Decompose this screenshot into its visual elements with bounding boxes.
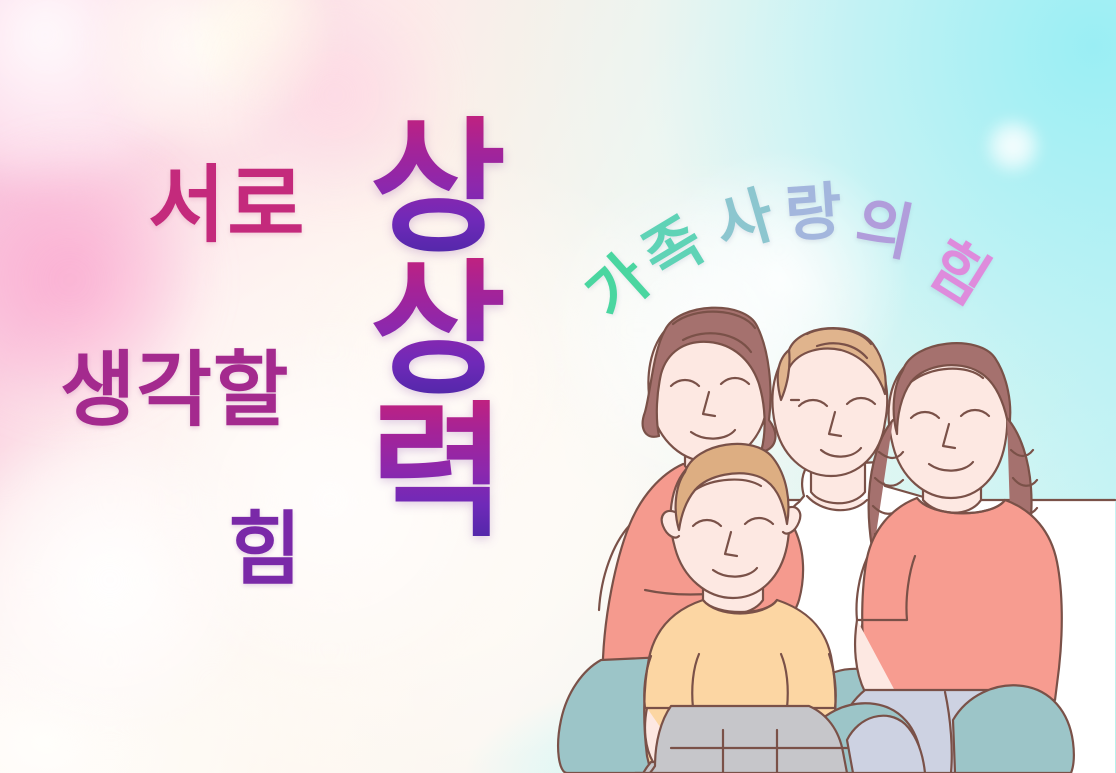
family-hug-illustration — [455, 300, 1116, 773]
headline-line-2: 생각할 — [60, 350, 289, 432]
arched-title: 가족사랑의힘 — [560, 180, 1060, 370]
big-char-1: 상 — [352, 116, 522, 258]
arched-title-char-5: 의 — [850, 193, 919, 266]
poster-canvas: 서로 생각할 힘 상 상 력 가족사랑의힘 — [0, 0, 1116, 773]
arched-title-char-3: 사 — [709, 183, 781, 258]
big-char-2: 상 — [352, 258, 522, 400]
headline-line-1: 서로 — [148, 163, 307, 247]
big-char-3: 력 — [352, 400, 522, 542]
headline-line-3: 힘 — [228, 510, 302, 590]
arched-title-char-4: 랑 — [783, 180, 844, 246]
headline-block: 서로 생각할 힘 상 상 력 — [0, 0, 520, 773]
arched-title-char-6: 힘 — [918, 232, 999, 315]
big-word-sangsangryeok: 상 상 력 — [352, 116, 522, 542]
